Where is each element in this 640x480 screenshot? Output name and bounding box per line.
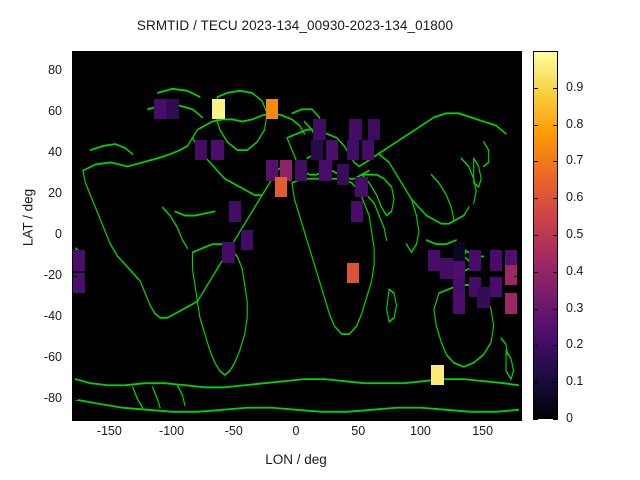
colorbar-tick-label: 0.3 <box>566 301 583 315</box>
map-data-cell <box>222 242 234 262</box>
y-tick <box>514 112 520 113</box>
map-data-cell <box>490 277 502 297</box>
map-data-cell <box>368 119 380 139</box>
x-tick-label: 0 <box>266 424 326 438</box>
colorbar-tick <box>533 419 538 420</box>
y-tick <box>72 194 78 195</box>
map-data-cell <box>490 250 502 270</box>
map-data-cell <box>195 140 207 160</box>
colorbar-tick <box>553 88 558 89</box>
colorbar-tick <box>553 419 558 420</box>
y-tick <box>72 235 78 236</box>
colorbar-tick <box>553 382 558 383</box>
x-tick-label: 50 <box>328 424 388 438</box>
y-tick <box>72 399 78 400</box>
y-tick <box>514 194 520 195</box>
map-data-cell <box>505 265 517 285</box>
x-tick <box>358 413 359 419</box>
map-data-cell <box>453 242 465 262</box>
y-tick <box>514 71 520 72</box>
colorbar-tick <box>533 198 538 199</box>
map-data-cell <box>337 164 349 184</box>
x-tick <box>483 51 484 57</box>
map-data-cell <box>440 258 452 278</box>
map-data-cell <box>154 99 166 119</box>
y-tick <box>72 153 78 154</box>
map-plot-area[interactable] <box>72 51 522 421</box>
map-data-cell <box>347 263 359 283</box>
coastline-overlay <box>73 52 521 420</box>
y-tick-label: -80 <box>20 391 62 405</box>
x-tick <box>109 413 110 419</box>
x-tick <box>358 51 359 57</box>
y-tick <box>514 358 520 359</box>
x-tick <box>420 51 421 57</box>
map-data-cell <box>505 293 517 313</box>
map-data-cell <box>166 99 178 119</box>
colorbar-tick-label: 0.8 <box>566 117 583 131</box>
map-data-cell <box>362 140 374 160</box>
x-tick <box>172 413 173 419</box>
map-data-cell <box>349 119 361 139</box>
y-tick <box>72 276 78 277</box>
map-data-cell <box>431 365 443 385</box>
map-data-cell <box>347 140 359 160</box>
colorbar-tick <box>533 309 538 310</box>
y-axis-title: LAT / deg <box>21 158 36 278</box>
map-data-cell <box>295 160 307 180</box>
colorbar-tick <box>533 382 538 383</box>
y-tick <box>514 235 520 236</box>
x-tick <box>483 413 484 419</box>
y-tick-label: -40 <box>20 309 62 323</box>
y-tick-label: 80 <box>20 63 62 77</box>
map-data-cell <box>241 230 253 250</box>
map-data-cell <box>311 140 323 160</box>
x-axis-title: LON / deg <box>72 452 520 467</box>
y-tick-label: -60 <box>20 350 62 364</box>
colorbar-tick <box>553 125 558 126</box>
colorbar-tick-label: 0.6 <box>566 190 583 204</box>
map-data-cell <box>453 293 465 313</box>
map-data-cell <box>212 99 224 119</box>
y-tick <box>72 358 78 359</box>
y-tick <box>514 276 520 277</box>
x-tick-label: -100 <box>142 424 202 438</box>
x-tick <box>109 51 110 57</box>
colorbar-tick <box>533 125 538 126</box>
map-data-cell <box>266 99 278 119</box>
x-tick <box>172 51 173 57</box>
x-tick <box>296 51 297 57</box>
colorbar-tick <box>553 309 558 310</box>
y-tick-label: 60 <box>20 104 62 118</box>
colorbar-tick-label: 0.5 <box>566 227 583 241</box>
colorbar-tick <box>533 88 538 89</box>
map-data-cell <box>428 250 440 270</box>
colorbar-tick-label: 0.2 <box>566 337 583 351</box>
map-data-cell <box>477 287 489 307</box>
map-data-cell <box>275 177 287 197</box>
colorbar-tick-label: 0 <box>566 411 573 425</box>
y-tick <box>72 71 78 72</box>
colorbar-tick <box>553 345 558 346</box>
colorbar-tick-label: 0.1 <box>566 374 583 388</box>
colorbar-tick-label: 0.7 <box>566 153 583 167</box>
colorbar-tick <box>553 235 558 236</box>
colorbar-tick <box>553 272 558 273</box>
x-tick <box>234 413 235 419</box>
y-tick <box>514 399 520 400</box>
x-tick <box>296 413 297 419</box>
map-data-cell <box>313 119 325 139</box>
x-tick <box>420 413 421 419</box>
colorbar-tick <box>533 161 538 162</box>
x-tick-label: -150 <box>79 424 139 438</box>
colorbar-tick <box>533 235 538 236</box>
colorbar-tick-label: 0.4 <box>566 264 583 278</box>
y-tick <box>514 153 520 154</box>
x-tick <box>234 51 235 57</box>
map-data-cell <box>229 201 241 221</box>
map-data-cell <box>319 160 331 180</box>
x-tick-label: 100 <box>390 424 450 438</box>
map-data-cell <box>211 140 223 160</box>
map-data-cell <box>355 177 367 197</box>
figure-canvas: SRMTID / TECU 2023-134_00930-2023-134_01… <box>0 0 640 480</box>
y-tick <box>514 317 520 318</box>
colorbar-tick-label: 0.9 <box>566 80 583 94</box>
y-tick <box>72 112 78 113</box>
map-data-cell <box>351 201 363 221</box>
map-data-cell <box>326 140 338 160</box>
x-tick-label: 150 <box>453 424 513 438</box>
x-tick-label: -50 <box>204 424 264 438</box>
chart-title: SRMTID / TECU 2023-134_00930-2023-134_01… <box>0 18 590 33</box>
map-data-cell <box>469 250 481 270</box>
colorbar-tick <box>553 198 558 199</box>
colorbar-tick <box>553 161 558 162</box>
y-tick <box>72 317 78 318</box>
colorbar-tick <box>533 345 538 346</box>
map-data-cell <box>73 250 85 270</box>
colorbar-tick <box>533 272 538 273</box>
